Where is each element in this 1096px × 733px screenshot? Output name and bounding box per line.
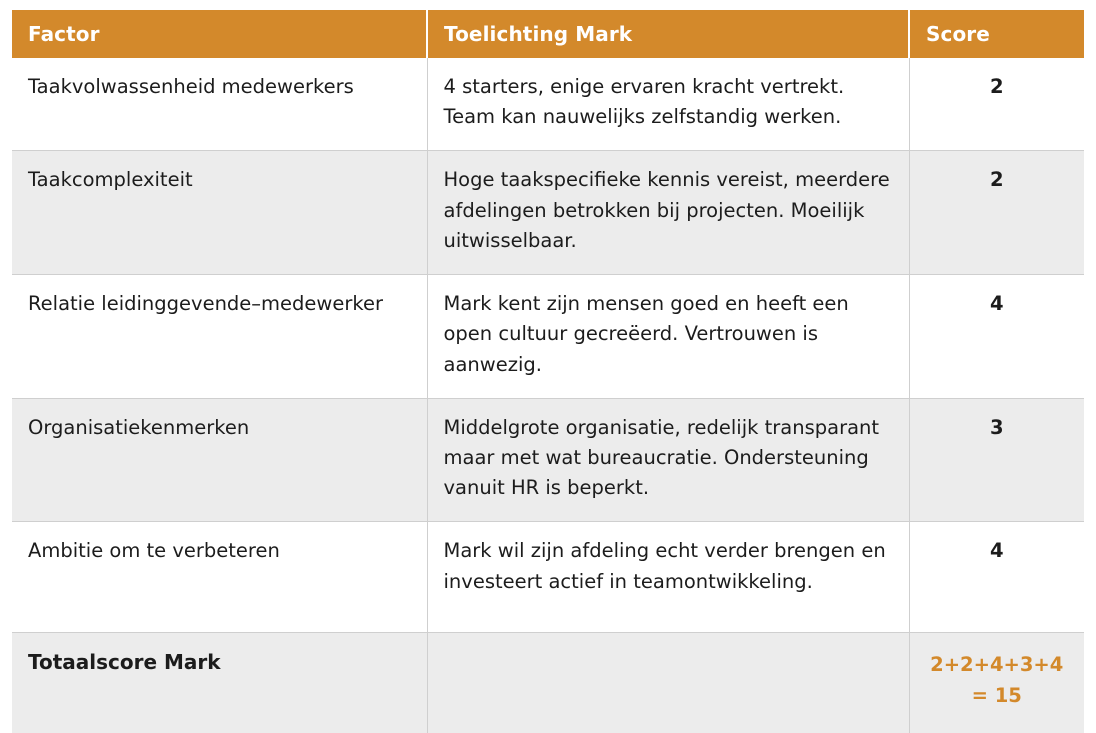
header-row: Factor Toelichting Mark Score	[12, 10, 1084, 58]
column-header-score: Score	[909, 10, 1084, 58]
cell-factor: Taakcomplexiteit	[12, 151, 427, 275]
cell-toelichting: 4 starters, enige ervaren kracht vertrek…	[427, 58, 909, 151]
table-header: Factor Toelichting Mark Score	[12, 10, 1084, 58]
total-row: Totaalscore Mark 2+2+4+3+4 = 15	[12, 633, 1084, 733]
column-header-toelichting: Toelichting Mark	[427, 10, 909, 58]
cell-factor: Taakvolwassenheid medewerkers	[12, 58, 427, 151]
table-row: Taakcomplexiteit Hoge taakspecifieke ken…	[12, 151, 1084, 275]
table-row: Ambitie om te verbeteren Mark wil zijn a…	[12, 522, 1084, 633]
cell-score: 3	[909, 398, 1084, 522]
cell-factor: Ambitie om te verbeteren	[12, 522, 427, 633]
table-row: Taakvolwassenheid medewerkers 4 starters…	[12, 58, 1084, 151]
table-row: Relatie leidinggevende–medewerker Mark k…	[12, 275, 1084, 399]
cell-factor: Relatie leidinggevende–medewerker	[12, 275, 427, 399]
cell-toelichting: Mark kent zijn mensen goed en heeft een …	[427, 275, 909, 399]
cell-toelichting: Middelgrote organisatie, redelijk transp…	[427, 398, 909, 522]
cell-toelichting: Mark wil zijn afdeling echt verder breng…	[427, 522, 909, 633]
cell-score: 4	[909, 522, 1084, 633]
column-header-factor: Factor	[12, 10, 427, 58]
cell-factor: Organisatiekenmerken	[12, 398, 427, 522]
score-table: Factor Toelichting Mark Score Taakvolwas…	[12, 10, 1084, 733]
table-footer: Totaalscore Mark 2+2+4+3+4 = 15	[12, 633, 1084, 733]
table-row: Organisatiekenmerken Middelgrote organis…	[12, 398, 1084, 522]
total-score-value: 2+2+4+3+4 = 15	[909, 633, 1084, 733]
table-body: Taakvolwassenheid medewerkers 4 starters…	[12, 58, 1084, 633]
page-root: Factor Toelichting Mark Score Taakvolwas…	[0, 0, 1096, 697]
cell-score: 2	[909, 58, 1084, 151]
total-spacer-cell	[427, 633, 909, 733]
total-label: Totaalscore Mark	[12, 633, 427, 733]
cell-score: 4	[909, 275, 1084, 399]
cell-toelichting: Hoge taakspecifieke kennis vereist, meer…	[427, 151, 909, 275]
cell-score: 2	[909, 151, 1084, 275]
